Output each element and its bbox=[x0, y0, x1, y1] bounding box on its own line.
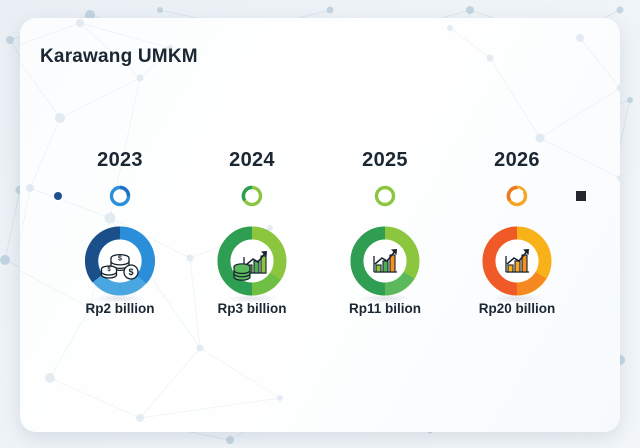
bar-chart-growth-coins-icon bbox=[230, 241, 274, 285]
milestone-amount-2024: Rp3 billion bbox=[182, 301, 322, 316]
infographic-card: Karawang UMKM 2023 bbox=[20, 18, 620, 432]
milestone-amount-2023: Rp2 billion bbox=[50, 301, 190, 316]
timeline-marker-2025[interactable] bbox=[373, 184, 397, 208]
bar-chart-growth-icon bbox=[363, 241, 407, 285]
milestone-year-2025: 2025 bbox=[325, 149, 445, 172]
timeline-marker-2026[interactable] bbox=[505, 184, 529, 208]
milestone-year-2023: 2023 bbox=[60, 149, 180, 172]
timeline-start-dot bbox=[54, 192, 62, 200]
timeline-marker-2024[interactable] bbox=[240, 184, 264, 208]
svg-text:$: $ bbox=[128, 267, 133, 277]
milestone-year-2024: 2024 bbox=[192, 149, 312, 172]
timeline-end-dot bbox=[576, 191, 586, 201]
milestone-year-2026: 2026 bbox=[457, 149, 577, 172]
timeline: 2023 bbox=[20, 18, 620, 432]
svg-text:$: $ bbox=[118, 256, 122, 263]
milestone-amount-2026: Rp20 billion bbox=[447, 301, 587, 316]
timeline-marker-2023[interactable] bbox=[108, 184, 132, 208]
bar-chart-growth-icon-2026 bbox=[495, 241, 539, 285]
infographic-stage: Karawang UMKM 2023 bbox=[0, 0, 640, 448]
milestone-amount-2025: Rp11 bilion bbox=[315, 301, 455, 316]
coin-stacks-icon: $ $ $ bbox=[98, 241, 142, 285]
